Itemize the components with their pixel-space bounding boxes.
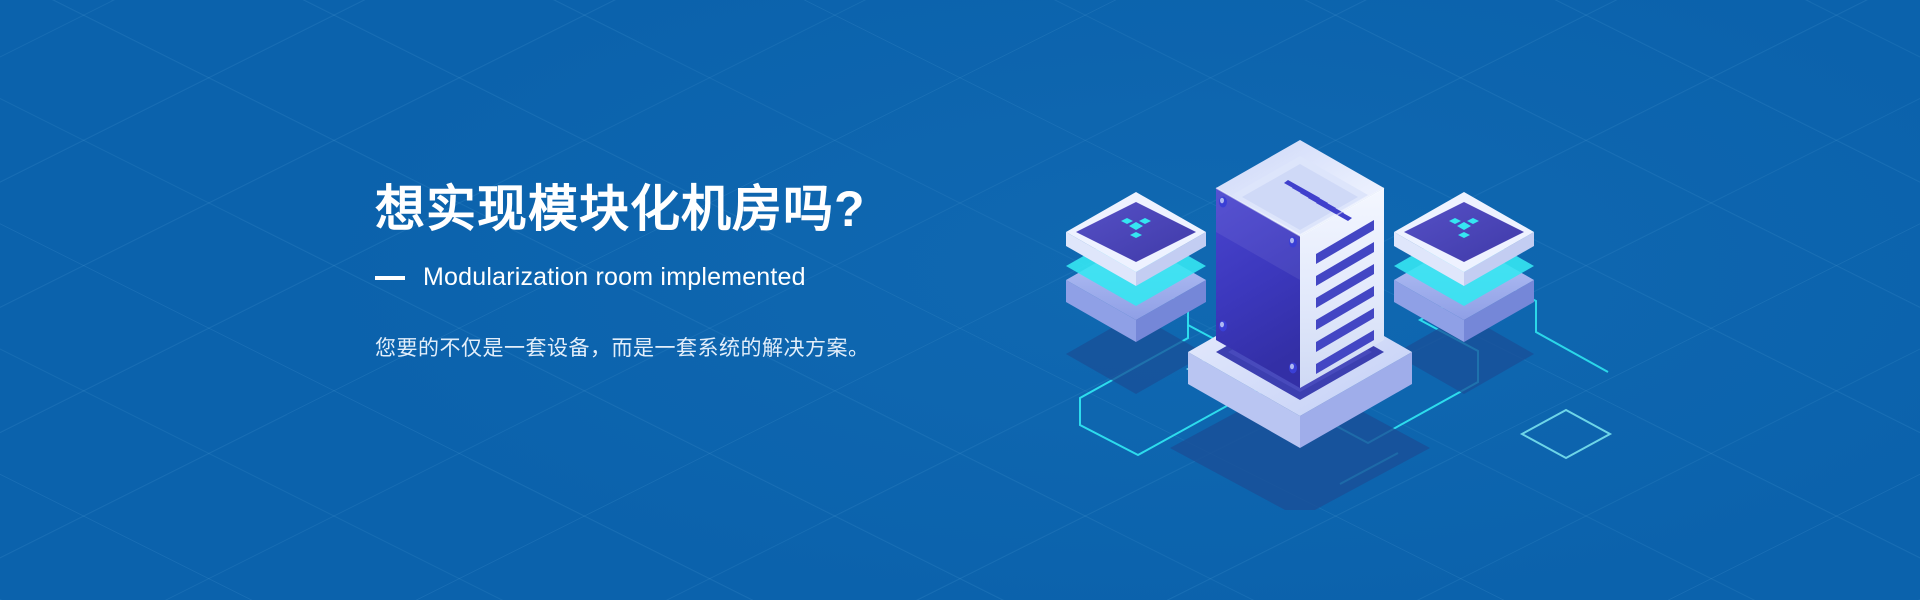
chip-module-right [1394, 192, 1534, 394]
chip-module-left [1066, 192, 1206, 394]
isometric-server-room-illustration [1010, 80, 1630, 510]
subtitle: Modularization room implemented [423, 263, 806, 292]
page-title: 想实现模块化机房吗? [375, 180, 1075, 239]
server-rack [1216, 140, 1384, 388]
hero-text-block: 想实现模块化机房吗? Modularization room implement… [375, 180, 1075, 362]
subtitle-row: Modularization room implemented [375, 263, 1075, 292]
dash-divider-icon [375, 276, 405, 280]
body-text: 您要的不仅是一套设备，而是一套系统的解决方案。 [375, 332, 1075, 362]
hero-banner: 想实现模块化机房吗? Modularization room implement… [0, 0, 1920, 600]
